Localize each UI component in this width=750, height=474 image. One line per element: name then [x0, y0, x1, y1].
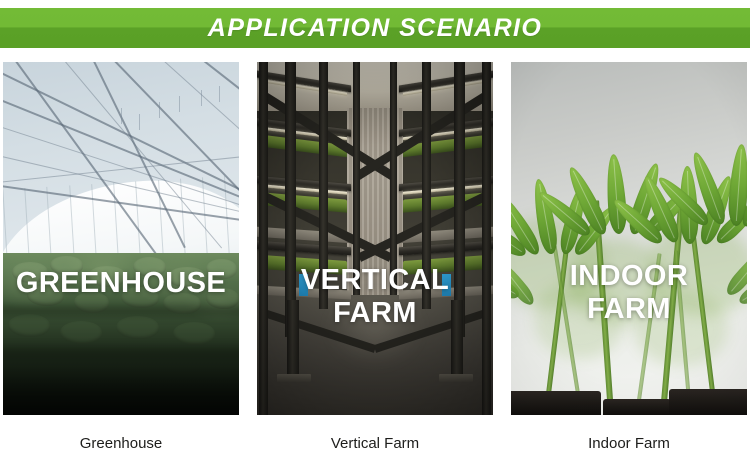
scenario-card-greenhouse[interactable]: GREENHOUSE	[3, 62, 239, 415]
card-overlay-label-indoor-farm: INDOOR FARM	[511, 260, 747, 326]
caption-indoor-farm: Indoor Farm	[511, 415, 747, 474]
scenario-card-indoor-farm[interactable]: INDOOR FARM	[511, 62, 747, 415]
vertical-farm-image	[257, 62, 493, 415]
section-banner: APPLICATION SCENARIO	[0, 8, 750, 48]
card-overlay-line-2: FARM	[517, 293, 741, 326]
card-overlay-line-1: VERTICAL	[263, 264, 487, 297]
page-title: APPLICATION SCENARIO	[208, 16, 543, 41]
caption-vertical-farm: Vertical Farm	[257, 415, 493, 474]
card-overlay-label-greenhouse: GREENHOUSE	[3, 267, 239, 300]
card-overlay-line-2: FARM	[263, 297, 487, 330]
caption-row: Greenhouse Vertical Farm Indoor Farm	[3, 415, 747, 474]
scenario-card-vertical-farm[interactable]: VERTICAL FARM	[257, 62, 493, 415]
card-overlay-label-vertical-farm: VERTICAL FARM	[257, 264, 493, 330]
greenhouse-image	[3, 62, 239, 415]
caption-greenhouse: Greenhouse	[3, 415, 239, 474]
indoor-farm-image	[511, 62, 747, 415]
application-scenario-page: APPLICATION SCENARIO	[0, 0, 750, 474]
card-overlay-line-1: INDOOR	[517, 260, 741, 293]
scenario-card-grid: GREENHOUSE	[3, 62, 747, 415]
